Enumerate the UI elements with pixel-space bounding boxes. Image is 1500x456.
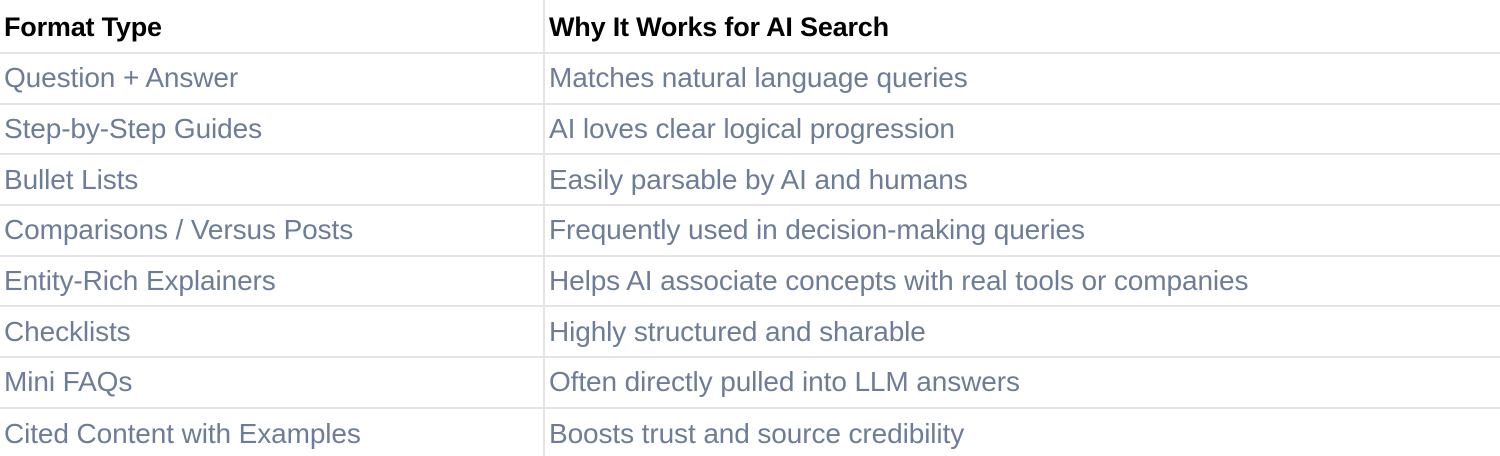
cell-why-it-works-text: Often directly pulled into LLM answers xyxy=(549,368,1494,396)
cell-format-type-text: Step-by-Step Guides xyxy=(4,115,537,143)
cell-why-it-works: Easily parsable by AI and humans xyxy=(544,154,1500,205)
cell-why-it-works-text: Boosts trust and source credibility xyxy=(549,420,1494,448)
column-header-format-type: Format Type xyxy=(0,0,544,53)
format-type-table-container: Format Type Why It Works for AI Search Q… xyxy=(0,0,1500,456)
cell-why-it-works: Frequently used in decision-making queri… xyxy=(544,205,1500,256)
column-header-format-type-label: Format Type xyxy=(4,14,537,41)
cell-format-type-text: Question + Answer xyxy=(4,64,537,92)
table-header-row: Format Type Why It Works for AI Search xyxy=(0,0,1500,53)
cell-format-type: Cited Content with Examples xyxy=(0,408,544,456)
table-row: Question + Answer Matches natural langua… xyxy=(0,53,1500,104)
cell-format-type: Checklists xyxy=(0,306,544,357)
cell-why-it-works-text: Matches natural language queries xyxy=(549,64,1494,92)
column-header-why-it-works-label: Why It Works for AI Search xyxy=(549,14,1494,41)
cell-format-type-text: Bullet Lists xyxy=(4,166,537,194)
cell-why-it-works: Helps AI associate concepts with real to… xyxy=(544,256,1500,307)
cell-format-type: Comparisons / Versus Posts xyxy=(0,205,544,256)
table-row: Comparisons / Versus Posts Frequently us… xyxy=(0,205,1500,256)
cell-why-it-works: Often directly pulled into LLM answers xyxy=(544,357,1500,408)
column-header-why-it-works: Why It Works for AI Search xyxy=(544,0,1500,53)
cell-why-it-works: AI loves clear logical progression xyxy=(544,104,1500,155)
cell-why-it-works-text: Helps AI associate concepts with real to… xyxy=(549,267,1494,295)
table-header: Format Type Why It Works for AI Search xyxy=(0,0,1500,53)
cell-format-type-text: Mini FAQs xyxy=(4,368,537,396)
cell-why-it-works: Matches natural language queries xyxy=(544,53,1500,104)
table-row: Checklists Highly structured and sharabl… xyxy=(0,306,1500,357)
table-row: Entity-Rich Explainers Helps AI associat… xyxy=(0,256,1500,307)
cell-format-type-text: Entity-Rich Explainers xyxy=(4,267,537,295)
format-type-table: Format Type Why It Works for AI Search Q… xyxy=(0,0,1500,456)
table-row: Bullet Lists Easily parsable by AI and h… xyxy=(0,154,1500,205)
cell-format-type: Bullet Lists xyxy=(0,154,544,205)
cell-why-it-works-text: AI loves clear logical progression xyxy=(549,115,1494,143)
cell-why-it-works: Highly structured and sharable xyxy=(544,306,1500,357)
cell-format-type: Question + Answer xyxy=(0,53,544,104)
cell-format-type: Entity-Rich Explainers xyxy=(0,256,544,307)
table-row: Cited Content with Examples Boosts trust… xyxy=(0,408,1500,456)
cell-why-it-works-text: Frequently used in decision-making queri… xyxy=(549,216,1494,244)
table-row: Mini FAQs Often directly pulled into LLM… xyxy=(0,357,1500,408)
cell-format-type: Mini FAQs xyxy=(0,357,544,408)
cell-format-type-text: Cited Content with Examples xyxy=(4,420,537,448)
cell-why-it-works-text: Easily parsable by AI and humans xyxy=(549,166,1494,194)
cell-format-type-text: Checklists xyxy=(4,318,537,346)
table-body: Question + Answer Matches natural langua… xyxy=(0,53,1500,456)
cell-format-type: Step-by-Step Guides xyxy=(0,104,544,155)
table-row: Step-by-Step Guides AI loves clear logic… xyxy=(0,104,1500,155)
cell-why-it-works-text: Highly structured and sharable xyxy=(549,318,1494,346)
cell-format-type-text: Comparisons / Versus Posts xyxy=(4,216,537,244)
cell-why-it-works: Boosts trust and source credibility xyxy=(544,408,1500,456)
